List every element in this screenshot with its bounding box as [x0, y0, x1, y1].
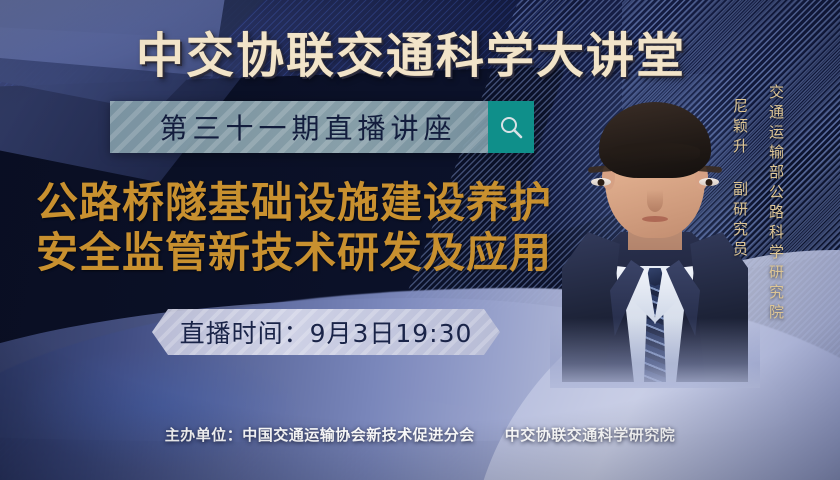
live-stream-poster: 中交协联交通科学大讲堂 第三十一期直播讲座 公路桥隧基础设施建设养护 安全监管新… [0, 0, 840, 480]
vignette-overlay [0, 0, 840, 480]
